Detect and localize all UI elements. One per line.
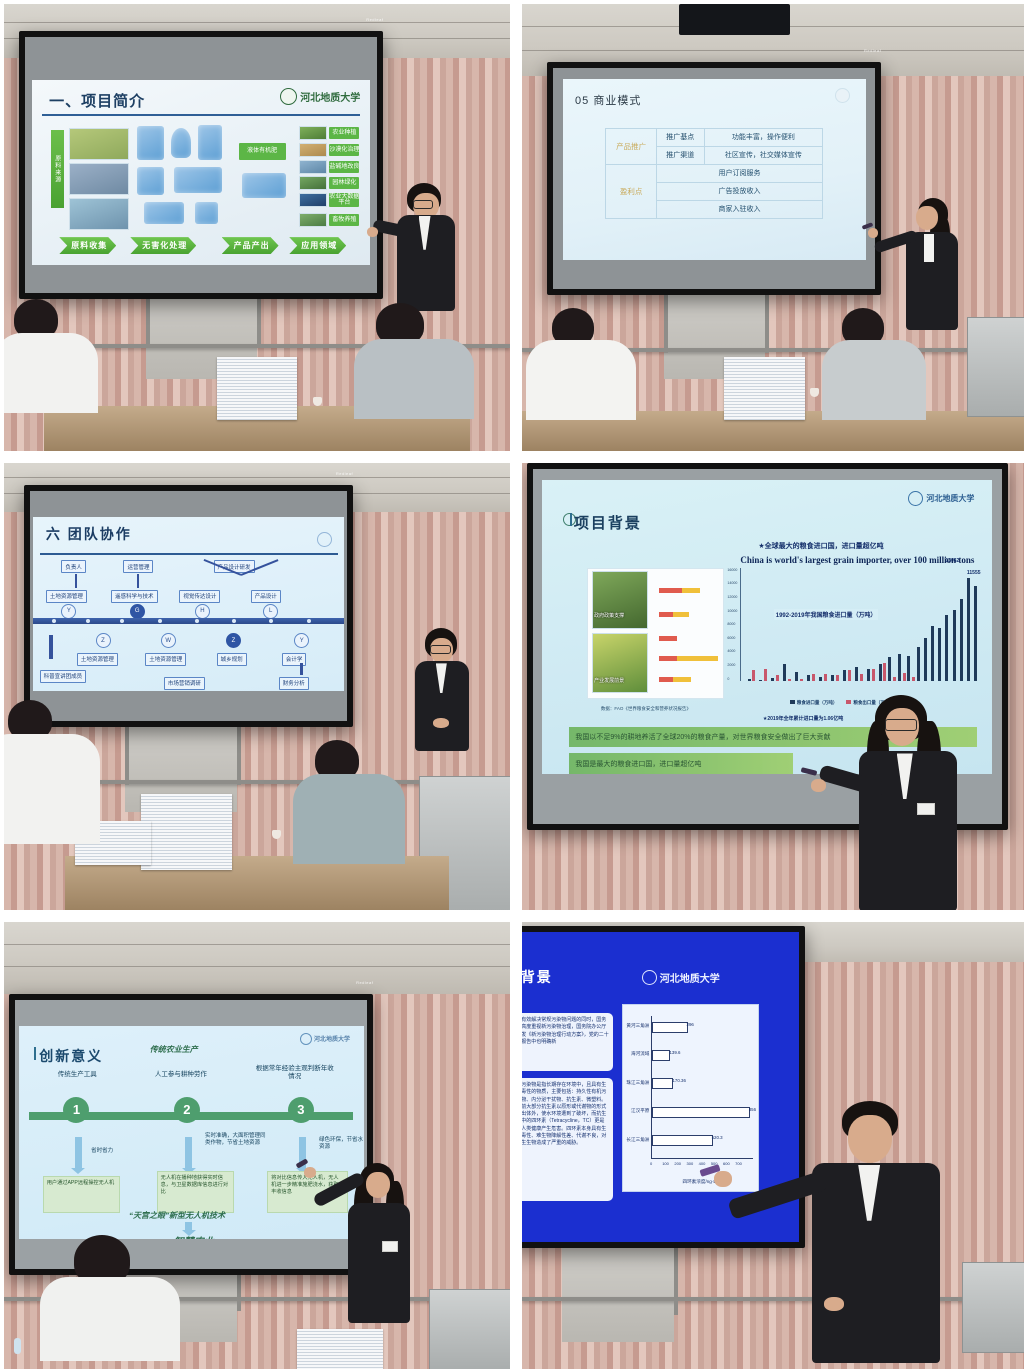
equipment-graphic — [171, 128, 191, 158]
green-banner: 我国是最大的粮食进口国，进口量超亿吨 — [569, 753, 792, 774]
mini-bar — [677, 656, 717, 661]
university-logo: 河北地质大学 — [280, 88, 360, 105]
cup — [272, 830, 281, 839]
cup — [313, 397, 322, 406]
flow-step: 应用领域 — [289, 237, 346, 254]
application-chip: 盐碱地改良 — [329, 161, 359, 173]
glasses-icon — [413, 200, 433, 209]
mini-bar — [682, 588, 700, 593]
paper-stack — [217, 357, 298, 420]
glasses-icon — [885, 719, 917, 731]
university-seal-icon — [280, 88, 297, 105]
flow-step: 产品产出 — [222, 237, 279, 254]
bar-value-3: 856 — [749, 1107, 756, 1112]
application-photo — [299, 193, 327, 207]
x-tick: 100 — [662, 1161, 669, 1166]
application-photo — [299, 143, 327, 157]
member-initial: Y — [61, 604, 76, 619]
down-arrow-icon — [185, 1137, 192, 1169]
projection-screen: Redleaf 05 商业模式 产品推广 推广基点 功能丰富，操作便利 推广渠道… — [547, 62, 881, 294]
x-tick: 200 — [674, 1161, 681, 1166]
source-photo — [69, 128, 128, 160]
legend-item: 粮食进口量（万吨） — [790, 700, 838, 706]
university-seal-icon — [300, 1033, 312, 1045]
title-accent-bar — [34, 1047, 36, 1060]
row-group-label: 产品推广 — [606, 128, 657, 164]
member-initial: Z — [226, 633, 241, 648]
university-logo: 河北地质大学 — [300, 1033, 350, 1045]
university-seal-icon — [317, 532, 332, 547]
down-arrow-icon — [185, 1222, 192, 1231]
university-name: 河北地质大学 — [300, 89, 360, 104]
bar-4 — [652, 1135, 712, 1146]
equipment-graphic — [137, 126, 164, 159]
name-badge — [917, 803, 935, 815]
title-divider — [40, 553, 338, 555]
paper-stack — [297, 1329, 383, 1369]
university-seal-icon — [908, 491, 923, 506]
x-tick: 300 — [687, 1161, 694, 1166]
source-photo — [69, 163, 128, 195]
university-seal-icon — [642, 970, 657, 985]
step-heading: 传统生产工具 — [39, 1071, 115, 1079]
member-initial: L — [263, 604, 278, 619]
org-major: 视觉传达设计 — [179, 590, 220, 603]
slide-team-collaboration: 六 团队协作 负责人 运营管理 产品设计研发 土地资源管理 遥感科学与技术 视觉… — [33, 517, 344, 691]
handwriting-top: 传统农业生产 — [150, 1044, 198, 1055]
import-export-chart: 1600014000 1200010000 80006000 40002000 … — [740, 568, 978, 692]
org-node: 负责人 — [61, 560, 86, 573]
bar-1 — [652, 1050, 670, 1061]
university-name: 河北地质大学 — [660, 970, 720, 985]
flow-step: 无害化处理 — [130, 237, 196, 254]
member-initial: G — [130, 604, 145, 619]
slide-title: 一、项目简介 — [49, 90, 145, 111]
step-number: 3 — [288, 1097, 314, 1123]
application-chip: 农业种植 — [329, 127, 359, 139]
data-label: 13062 — [945, 558, 959, 564]
org-output: 财务分析 — [279, 677, 309, 690]
row-key: 推广基点 — [656, 128, 704, 146]
tetracycline-chart: 296 黄河三角洲 139.6 海河流域 170.36 珠江三角洲 856 江汉… — [622, 1004, 759, 1192]
org-major: 遥感科学与技术 — [111, 590, 158, 603]
down-arrow-icon — [75, 1137, 82, 1169]
org-major: 产品设计 — [251, 590, 281, 603]
handwriting-mid: “天宫之眼”新型无人机技术 — [129, 1210, 225, 1221]
audience-member — [297, 740, 449, 910]
glasses-icon — [430, 645, 451, 654]
projector-brand-label: Redleaf — [356, 980, 373, 985]
collage-panel-2: Redleaf 05 商业模式 产品推广 推广基点 功能丰富，操作便利 推广渠道… — [522, 4, 1024, 451]
slide-title: 背景 — [522, 967, 553, 987]
member-initial: Y — [294, 633, 309, 648]
text-card-policy: 为有效解决常规污染物问题的同时，国务院高度重视新污染物治理，国务院办公厅印发《新… — [522, 1013, 613, 1071]
mini-bar — [659, 656, 677, 661]
slide-title: 项目背景 — [574, 512, 642, 533]
university-name: 河北地质大学 — [314, 1034, 350, 1043]
application-photo — [299, 160, 327, 174]
application-chip: 园林绿化 — [329, 177, 359, 189]
photo-caption: 产业发展前景 — [594, 677, 624, 684]
row-value: 功能丰富，操作便利 — [704, 128, 823, 146]
paper-stack — [141, 794, 232, 870]
slide-title: 05 商业模式 — [575, 92, 641, 108]
collage-panel-3: Redleaf 六 团队协作 负责人 运营管理 产品设计研发 土地资源管理 遥感… — [4, 463, 510, 910]
slide-project-intro: 一、项目简介 河北地质大学 原料来源 — [32, 80, 370, 264]
bar-label-3: 江汉平原 — [597, 1108, 649, 1114]
row-group-label: 盈利点 — [606, 164, 657, 218]
equipment-graphic — [242, 173, 286, 199]
step-detail-box: 无人机在播种地获得实时信息，与卫星数据库信息进行对比 — [157, 1171, 234, 1213]
industry-photo — [592, 633, 648, 694]
water-bottle — [14, 1338, 21, 1354]
step-heading: 人工参与耕种劳作 — [136, 1071, 226, 1079]
timeline-band — [33, 618, 344, 624]
audience-member — [44, 1235, 236, 1369]
presenter — [841, 695, 1024, 910]
source-photo — [69, 198, 128, 230]
equipment-graphic — [198, 125, 222, 160]
application-photo — [299, 213, 327, 227]
bar-value-2: 170.36 — [672, 1078, 685, 1083]
collage-panel-4: 项目背景 河北地质大学 ★全球最大的粮食进口国，进口量超亿吨 China is … — [522, 463, 1024, 910]
audience-member — [4, 299, 115, 451]
x-tick: 0 — [650, 1161, 652, 1166]
projector-brand-label: Redleaf — [366, 17, 383, 22]
source-note: 数据：FAO《世界粮食安全和营养状况报告》 — [601, 706, 691, 712]
table-row: 盈利点 用户订阅服务 — [606, 164, 823, 182]
slide-title: 六 团队协作 — [46, 524, 132, 544]
projection-screen: Redleaf 一、项目简介 河北地质大学 原料来源 — [19, 31, 383, 299]
bar-label-0: 黄河三角洲 — [597, 1023, 649, 1029]
step-benefit: 绿色环保，节省水资源 — [319, 1137, 364, 1151]
mini-bar — [673, 677, 691, 682]
slide-innovation-significance: 创新意义 河北地质大学 传统农业生产 传统生产工具 人工参与耕种劳作 根据常年经… — [19, 1026, 364, 1239]
photo-collage: Redleaf 一、项目简介 河北地质大学 原料来源 — [0, 0, 1024, 1365]
ceiling-projector — [679, 4, 790, 35]
org-node: 运营管理 — [123, 560, 153, 573]
university-name: 河北地质大学 — [926, 493, 974, 504]
bar-0 — [652, 1022, 687, 1033]
y-axis — [740, 568, 741, 682]
projection-screen: Redleaf 创新意义 河北地质大学 传统农业生产 传统生产工具 人工参与耕种… — [9, 994, 373, 1276]
collage-panel-6: Redleaf 背景 河北地质大学 为有效解决常规污染物问题的同时，国务院高度重… — [522, 922, 1024, 1369]
title-divider — [42, 114, 360, 116]
name-badge — [382, 1241, 398, 1252]
row-value: 用户订阅服务 — [656, 164, 822, 182]
mini-bar — [659, 636, 677, 641]
collage-panel-5: Redleaf 创新意义 河北地质大学 传统农业生产 传统生产工具 人工参与耕种… — [4, 922, 510, 1369]
chart-inner-label: 1992-2019年我国粮食进口量（万吨） — [774, 609, 879, 620]
org-output: 市场营销调研 — [164, 677, 205, 690]
paper-stack — [724, 357, 805, 420]
cabinet — [962, 1262, 1024, 1353]
bar-value-4: 520.3 — [712, 1135, 723, 1140]
member-initial: Z — [96, 633, 111, 648]
x-tick: 600 — [723, 1161, 730, 1166]
slide-title: 创新意义 — [39, 1046, 103, 1066]
bar-value-0: 296 — [687, 1022, 694, 1027]
projection-screen: Redleaf 六 团队协作 负责人 运营管理 产品设计研发 土地资源管理 遥感… — [24, 485, 353, 726]
org-output: 科普宣讲团成员 — [40, 670, 87, 683]
bar-label-4: 长江三角洲 — [597, 1137, 649, 1143]
org-major: 土地资源管理 — [46, 590, 87, 603]
x-tick: 700 — [735, 1161, 742, 1166]
step-detail-box: 用户通过APP远程操控无人机 — [43, 1176, 120, 1214]
cabinet — [429, 1289, 510, 1369]
collage-panel-1: Redleaf 一、项目简介 河北地质大学 原料来源 — [4, 4, 510, 451]
application-chip: 畜牧养殖 — [329, 214, 359, 226]
photo-caption: 政府政策支撑 — [594, 612, 624, 619]
mini-bar — [673, 612, 689, 617]
data-label: 11555 — [967, 570, 981, 576]
chart-plot-area: 296 黄河三角洲 139.6 海河流域 170.36 珠江三角洲 856 江汉… — [651, 1016, 752, 1159]
member-initial: W — [161, 633, 176, 648]
university-logo: 河北地质大学 — [642, 970, 720, 985]
step-number: 2 — [174, 1097, 200, 1123]
chart-footnote: ★2019年全年累计进口量为1.06亿吨 — [763, 715, 843, 722]
slide-business-model: 05 商业模式 产品推广 推广基点 功能丰富，操作便利 推广渠道 社区宣传，社交… — [563, 79, 866, 260]
step-benefit: 省时省力 — [91, 1148, 146, 1155]
bar-label-1: 海河流域 — [597, 1051, 649, 1057]
headline-english: China is world's largest grain importer,… — [740, 555, 974, 565]
bar-3 — [652, 1107, 749, 1118]
bar-label-2: 珠江三角洲 — [597, 1080, 649, 1086]
application-chip: 农业大数据平台 — [329, 193, 359, 207]
application-chip: 沙漠化治理 — [329, 144, 359, 156]
row-value: 社区宣传，社交媒体宣传 — [704, 146, 823, 164]
step-benefit: 实时准确，大面积管理同类作物，节省土地资源 — [205, 1133, 271, 1147]
org-major: 城乡规划 — [217, 653, 247, 666]
bar-value-1: 139.6 — [669, 1050, 680, 1055]
row-value: 商家入驻收入 — [656, 200, 822, 218]
application-photo — [299, 126, 327, 140]
table-row: 产品推广 推广基点 功能丰富，操作便利 — [606, 128, 823, 146]
product-chip: 液体有机肥 — [239, 143, 286, 160]
headline-chinese: ★全球最大的粮食进口国，进口量超亿吨 — [758, 541, 883, 551]
university-logo: 河北地质大学 — [908, 491, 974, 506]
title-accent-bar — [570, 513, 572, 526]
equipment-graphic — [144, 202, 185, 224]
policy-photo — [592, 571, 648, 629]
equipment-graphic — [195, 202, 219, 224]
decor-dot-icon — [835, 88, 850, 103]
row-key: 推广渠道 — [656, 146, 704, 164]
step-heading: 根据常年经验主观判断年收情况 — [253, 1065, 336, 1081]
org-major: 土地资源管理 — [77, 653, 118, 666]
business-model-table: 产品推广 推广基点 功能丰富，操作便利 推广渠道 社区宣传，社交媒体宣传 盈利点… — [605, 128, 823, 219]
mini-bar — [659, 677, 672, 682]
audience-member — [826, 308, 968, 451]
audience-member — [358, 303, 510, 451]
projector-brand-label: Redleaf — [864, 48, 881, 53]
audience-member — [532, 308, 674, 451]
member-initial: H — [195, 604, 210, 619]
x-tick: 400 — [699, 1161, 706, 1166]
bar-2 — [652, 1078, 673, 1089]
mini-bar — [659, 588, 681, 593]
cabinet — [967, 317, 1024, 417]
audience-member — [4, 700, 125, 910]
equipment-graphic — [174, 167, 221, 193]
equipment-graphic — [137, 167, 164, 195]
source-vertical-label: 原料来源 — [51, 130, 64, 207]
flow-step: 原料收集 — [59, 237, 116, 254]
application-photo — [299, 176, 327, 190]
row-value: 广告投放收入 — [656, 182, 822, 200]
mini-bar — [659, 612, 672, 617]
projector-brand-label: Redleaf — [336, 471, 353, 476]
org-major: 土地资源管理 — [145, 653, 186, 666]
